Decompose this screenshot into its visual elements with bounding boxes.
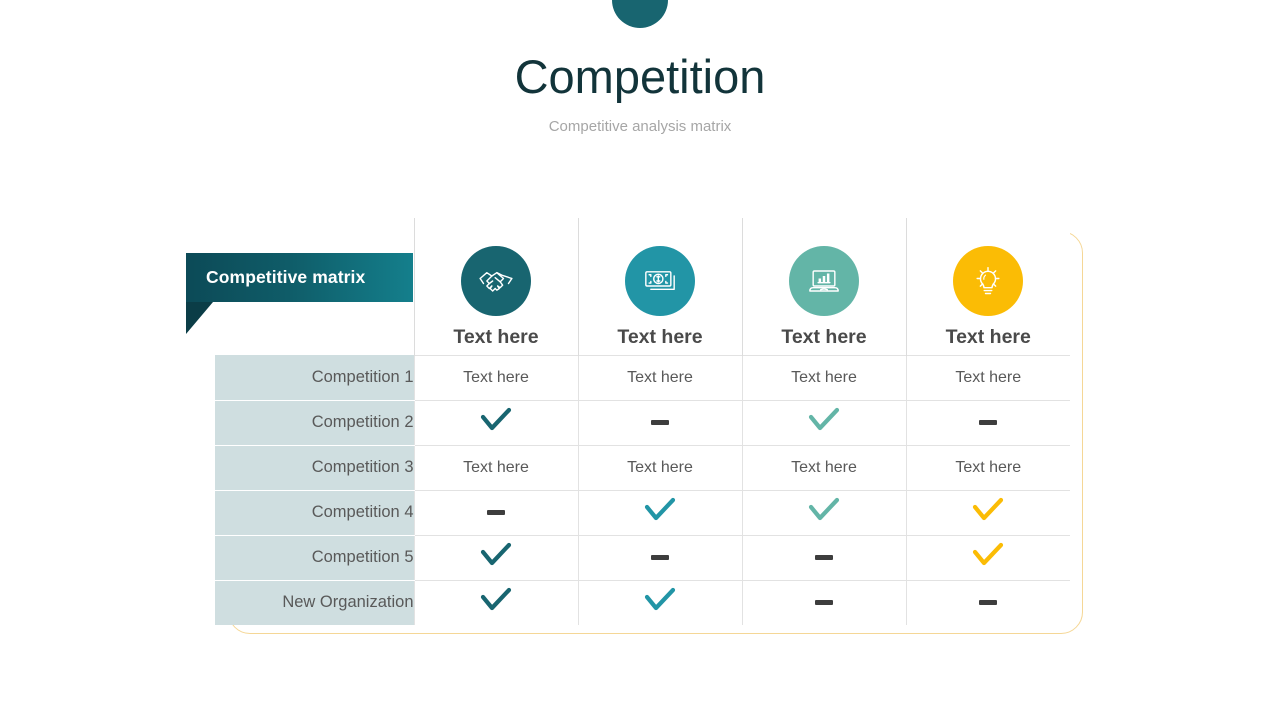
check-icon (971, 542, 1005, 568)
check-icon (643, 587, 677, 613)
row-label-2[interactable]: Competition 2 (215, 400, 414, 445)
check-icon (971, 497, 1005, 523)
column-header-label: Text here (907, 325, 1071, 349)
check-icon (479, 407, 513, 433)
cell-text: Text here (791, 459, 857, 476)
dash-icon (979, 420, 997, 425)
cell-text: Text here (627, 459, 693, 476)
check-icon (479, 587, 513, 613)
slide-canvas: Competition Competitive analysis matrix … (0, 0, 1280, 720)
dash-icon (651, 420, 669, 425)
ribbon-fold-icon (186, 302, 213, 334)
lightbulb-icon (953, 246, 1023, 316)
cell-r4-c1[interactable] (414, 490, 578, 535)
cell-text: Text here (627, 369, 693, 386)
laptop-chart-icon (789, 246, 859, 316)
cell-r5-c1[interactable] (414, 535, 578, 580)
dash-icon (815, 555, 833, 560)
cell-text: Text here (955, 459, 1021, 476)
handshake-icon (461, 246, 531, 316)
cell-r6-c4[interactable] (906, 580, 1070, 625)
cell-text: Text here (463, 459, 529, 476)
table-row: Competition 2 (215, 400, 1070, 445)
column-header-3[interactable]: Text here (742, 218, 906, 355)
row-label-3[interactable]: Competition 3 (215, 445, 414, 490)
cell-r3-c2[interactable]: Text here (578, 445, 742, 490)
cell-r6-c3[interactable] (742, 580, 906, 625)
dash-icon (979, 600, 997, 605)
cell-r3-c4[interactable]: Text here (906, 445, 1070, 490)
cell-r1-c3[interactable]: Text here (742, 355, 906, 400)
cell-r4-c4[interactable] (906, 490, 1070, 535)
cell-r6-c2[interactable] (578, 580, 742, 625)
column-header-1[interactable]: Text here (414, 218, 578, 355)
column-header-2[interactable]: Text here (578, 218, 742, 355)
cell-r2-c2[interactable] (578, 400, 742, 445)
page-subtitle: Competitive analysis matrix (0, 117, 1280, 137)
dash-icon (815, 600, 833, 605)
ribbon-label: Competitive matrix (186, 267, 365, 288)
cell-r4-c3[interactable] (742, 490, 906, 535)
cell-text: Text here (791, 369, 857, 386)
dash-icon (487, 510, 505, 515)
cell-r5-c2[interactable] (578, 535, 742, 580)
cell-r2-c1[interactable] (414, 400, 578, 445)
dash-icon (651, 555, 669, 560)
page-title: Competition (0, 48, 1280, 106)
cell-r2-c3[interactable] (742, 400, 906, 445)
column-header-label: Text here (743, 325, 906, 349)
cell-text: Text here (463, 369, 529, 386)
table-row: New Organization (215, 580, 1070, 625)
cell-r3-c1[interactable]: Text here (414, 445, 578, 490)
check-icon (807, 497, 841, 523)
cell-r5-c3[interactable] (742, 535, 906, 580)
table-row: Competition 5 (215, 535, 1070, 580)
cell-r4-c2[interactable] (578, 490, 742, 535)
cell-r2-c4[interactable] (906, 400, 1070, 445)
row-label-5[interactable]: Competition 5 (215, 535, 414, 580)
row-label-1[interactable]: Competition 1 (215, 355, 414, 400)
semicircle-marker (612, 0, 668, 28)
table-row: Competition 1Text hereText hereText here… (215, 355, 1070, 400)
cell-r6-c1[interactable] (414, 580, 578, 625)
cell-r3-c3[interactable]: Text here (742, 445, 906, 490)
table-row: Competition 4 (215, 490, 1070, 535)
column-header-4[interactable]: Text here (906, 218, 1070, 355)
table-row: Competition 3Text hereText hereText here… (215, 445, 1070, 490)
column-header-label: Text here (415, 325, 578, 349)
check-icon (479, 542, 513, 568)
cell-r1-c4[interactable]: Text here (906, 355, 1070, 400)
column-header-label: Text here (579, 325, 742, 349)
cell-r1-c2[interactable]: Text here (578, 355, 742, 400)
cell-text: Text here (955, 369, 1021, 386)
cell-r1-c1[interactable]: Text here (414, 355, 578, 400)
row-label-6[interactable]: New Organization (215, 580, 414, 625)
ribbon-banner: Competitive matrix (186, 253, 413, 302)
cell-r5-c4[interactable] (906, 535, 1070, 580)
check-icon (643, 497, 677, 523)
check-icon (807, 407, 841, 433)
banknote-icon (625, 246, 695, 316)
row-label-4[interactable]: Competition 4 (215, 490, 414, 535)
